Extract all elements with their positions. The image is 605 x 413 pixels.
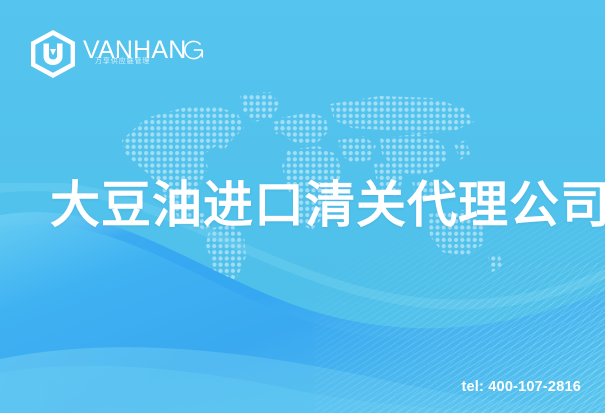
brand-subtitle-text: 万享供应链管理 <box>95 57 150 66</box>
contact-phone[interactable]: tel: 400-107-2816 <box>462 379 581 395</box>
promo-banner: VANHAN 万享供应链管理 大豆油进口清关代理公司 tel: 400-107-… <box>0 0 605 413</box>
brand-wordmark: VANHAN 万享供应链管理 <box>83 37 206 71</box>
hexagon-u-logo-icon <box>30 30 76 78</box>
brand-letter-g-icon <box>181 37 206 63</box>
page-title: 大豆油进口清关代理公司 <box>50 176 605 234</box>
brand-logo[interactable]: VANHAN 万享供应链管理 <box>30 30 206 78</box>
